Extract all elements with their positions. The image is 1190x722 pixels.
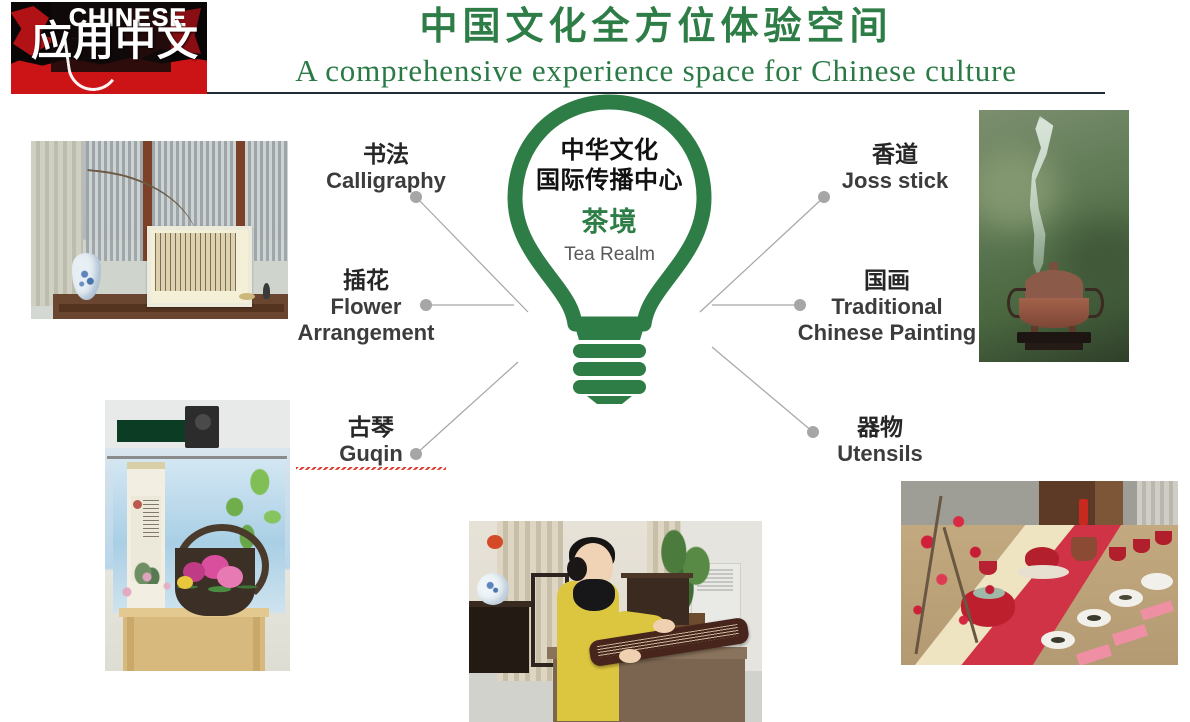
wooden-stand bbox=[123, 608, 265, 671]
node-label-flower-arrangement[interactable]: 插花 Flower Arrangement bbox=[266, 266, 466, 346]
white-tea-dish-4 bbox=[1141, 573, 1173, 590]
node-cn-utensils: 器物 bbox=[800, 413, 960, 441]
node-cn-flower: 插花 bbox=[266, 266, 466, 294]
node-en-utensils: Utensils bbox=[800, 441, 960, 467]
node-en-flower: Flower Arrangement bbox=[266, 294, 466, 346]
node-en-painting: Traditional Chinese Painting bbox=[797, 294, 977, 346]
node-cn-joss: 香道 bbox=[800, 140, 990, 168]
photo-flower-arrangement bbox=[105, 400, 290, 671]
center-theme-en: Tea Realm bbox=[497, 243, 722, 267]
center-theme-cn: 茶境 bbox=[497, 203, 722, 243]
node-label-guqin[interactable]: 古琴 Guqin bbox=[296, 413, 446, 470]
censer-body bbox=[1019, 298, 1089, 328]
scroll-inscription bbox=[143, 500, 159, 540]
performer-hand-right bbox=[653, 619, 675, 633]
photo-incense-censer bbox=[979, 110, 1129, 362]
wooden-door-frame bbox=[1095, 481, 1123, 527]
red-cup-row-1 bbox=[1109, 547, 1126, 561]
node-cn-calligraphy: 书法 bbox=[286, 140, 486, 168]
photo-guqin-performance bbox=[469, 521, 762, 722]
photo-calligraphy bbox=[31, 141, 288, 319]
bulb-neck bbox=[573, 320, 646, 340]
page-title-en: A comprehensive experience space for Chi… bbox=[207, 52, 1105, 90]
left-console bbox=[469, 601, 529, 673]
stand-leg-right bbox=[253, 617, 260, 671]
hanging-rod bbox=[107, 456, 287, 459]
tea-leaves-1 bbox=[1051, 637, 1065, 643]
persimmon-decor bbox=[487, 535, 503, 549]
speaker-cone bbox=[195, 414, 211, 430]
slide-canvas: CHINESE 应用中文 中国文化全方位体验空间 A comprehensive… bbox=[0, 0, 1190, 722]
bulb-tip bbox=[587, 396, 632, 404]
bulb-thread-1 bbox=[573, 344, 646, 358]
censer-wooden-stand bbox=[1017, 332, 1091, 343]
vase-blue-pattern bbox=[77, 263, 96, 291]
side-table-top bbox=[621, 573, 693, 578]
bulb-thread-3 bbox=[573, 380, 646, 394]
stand-leg-left bbox=[127, 617, 134, 671]
censer-lid bbox=[1025, 270, 1083, 300]
plum-blossom-branch bbox=[111, 550, 191, 610]
clay-tea-jar bbox=[1071, 537, 1097, 561]
connector-line-utensils bbox=[712, 347, 813, 432]
red-cup-row-3 bbox=[1155, 531, 1172, 545]
gaiwan-saucer bbox=[1017, 565, 1069, 579]
node-cn-painting: 国画 bbox=[797, 266, 977, 294]
red-cup-row-2 bbox=[1133, 539, 1150, 553]
fire-extinguisher bbox=[1079, 499, 1088, 525]
calligraphy-text-area bbox=[155, 233, 236, 291]
node-en-guqin: Guqin bbox=[296, 441, 446, 470]
central-lightbulb: 中华文化 国际传播中心 茶境 Tea Realm bbox=[497, 92, 722, 404]
performer-hair-bun bbox=[567, 557, 587, 581]
small-dish bbox=[239, 293, 255, 300]
node-label-utensils[interactable]: 器物 Utensils bbox=[800, 413, 960, 467]
vase-blue-pattern bbox=[483, 579, 501, 595]
page-title-cn: 中国文化全方位体验空间 bbox=[207, 2, 1105, 50]
censer-stand-base bbox=[1025, 343, 1083, 350]
center-title-line-1: 中华文化 bbox=[497, 136, 722, 165]
node-en-joss: Joss stick bbox=[800, 168, 990, 194]
signboard-text bbox=[120, 422, 190, 440]
bulb-thread-2 bbox=[573, 362, 646, 376]
scroll-seal bbox=[133, 500, 142, 509]
node-cn-guqin: 古琴 bbox=[296, 413, 446, 441]
photo-tea-ceremony-table bbox=[901, 481, 1178, 665]
node-label-traditional-chinese-painting[interactable]: 国画 Traditional Chinese Painting bbox=[797, 266, 977, 346]
pink-flower-3 bbox=[217, 566, 243, 588]
node-label-joss-stick[interactable]: 香道 Joss stick bbox=[800, 140, 990, 194]
tea-leaves-2 bbox=[1087, 615, 1101, 621]
chinese-logo-banner: CHINESE 应用中文 bbox=[11, 2, 207, 94]
performer-scarf bbox=[573, 579, 615, 611]
node-en-calligraphy: Calligraphy bbox=[286, 168, 486, 194]
node-label-calligraphy[interactable]: 书法 Calligraphy bbox=[286, 140, 486, 194]
performer-hand-left bbox=[619, 649, 641, 663]
center-title-line-2: 国际传播中心 bbox=[497, 165, 722, 195]
tea-leaves-3 bbox=[1119, 595, 1132, 600]
